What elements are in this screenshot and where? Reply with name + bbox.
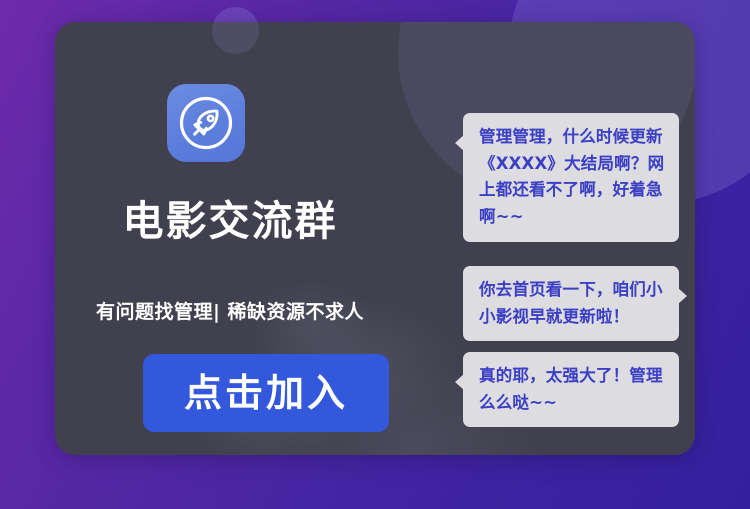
brand-panel: 电影交流群 有问题找管理| 稀缺资源不求人 点击加入	[55, 22, 405, 455]
promo-banner: 电影交流群 有问题找管理| 稀缺资源不求人 点击加入 管理管理，什么时候更新《X…	[0, 0, 750, 509]
chat-bubble-2: 你去首页看一下，咱们小小影视早就更新啦！	[463, 266, 679, 341]
bubble-tail-icon	[455, 135, 464, 151]
promo-card: 电影交流群 有问题找管理| 稀缺资源不求人 点击加入 管理管理，什么时候更新《X…	[55, 22, 695, 455]
chat-message-text: 真的耶，太强大了！管理么么哒~~	[479, 366, 663, 412]
rocket-icon	[167, 84, 245, 162]
bubble-tail-icon	[455, 374, 464, 390]
join-button[interactable]: 点击加入	[143, 354, 389, 432]
page-title: 电影交流群	[55, 199, 405, 244]
chat-message-text: 你去首页看一下，咱们小小影视早就更新啦！	[479, 280, 663, 326]
chat-panel: 管理管理，什么时候更新《XXXX》大结局啊？网上都还看不了啊，好着急啊~~ 你去…	[405, 22, 695, 455]
chat-bubble-1: 管理管理，什么时候更新《XXXX》大结局啊？网上都还看不了啊，好着急啊~~	[463, 113, 679, 242]
chat-bubble-3: 真的耶，太强大了！管理么么哒~~	[463, 352, 679, 427]
bubble-tail-icon	[678, 288, 687, 304]
tagline: 有问题找管理| 稀缺资源不求人	[55, 297, 405, 324]
chat-message-text: 管理管理，什么时候更新《XXXX》大结局啊？网上都还看不了啊，好着急啊~~	[479, 127, 664, 226]
